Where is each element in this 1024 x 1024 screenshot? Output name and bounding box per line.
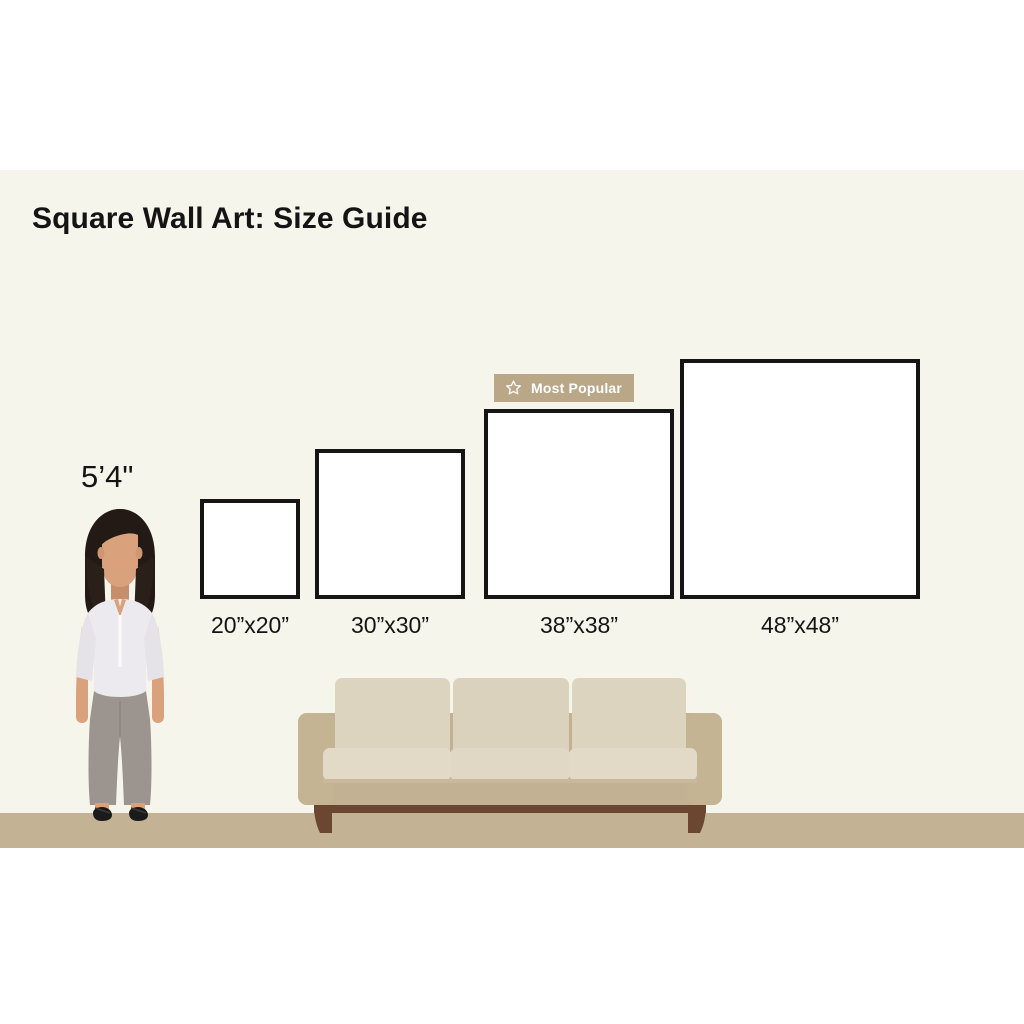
back-cushion-1 — [335, 678, 450, 758]
art-frame-20[interactable] — [200, 499, 300, 599]
art-frame-30[interactable] — [315, 449, 465, 599]
ear-right — [136, 547, 143, 559]
back-cushion-3 — [572, 678, 686, 758]
shoe-left — [93, 807, 112, 821]
art-frame-48[interactable] — [680, 359, 920, 599]
sofa-leg-right — [688, 805, 706, 833]
most-popular-badge-label: Most Popular — [531, 380, 622, 396]
person-illustration — [60, 505, 180, 825]
shoe-right — [129, 807, 148, 821]
back-cushion-2 — [453, 678, 569, 758]
seat-shadow — [323, 779, 697, 783]
art-frame-label-48: 48”x48” — [680, 612, 920, 639]
art-frame-label-20: 20”x20” — [200, 612, 300, 639]
person-height-label: 5’4" — [81, 459, 133, 495]
blouse-placket — [119, 615, 122, 667]
seat-cushion-3 — [569, 748, 697, 781]
ear-left — [98, 547, 105, 559]
sofa-base-rail — [314, 805, 706, 813]
most-popular-badge: Most Popular — [494, 374, 634, 402]
star-outline-icon — [505, 379, 522, 396]
page-title: Square Wall Art: Size Guide — [32, 202, 428, 236]
art-frame-label-38: 38”x38” — [484, 612, 674, 639]
art-frame-label-30: 30”x30” — [315, 612, 465, 639]
sofa-illustration — [280, 665, 740, 840]
seat-cushion-1 — [323, 748, 451, 781]
size-guide-scene: Square Wall Art: Size Guide 5’4" — [0, 0, 1024, 1024]
seat-cushion-2 — [450, 748, 570, 781]
sofa-leg-left — [314, 805, 332, 833]
art-frame-38[interactable] — [484, 409, 674, 599]
